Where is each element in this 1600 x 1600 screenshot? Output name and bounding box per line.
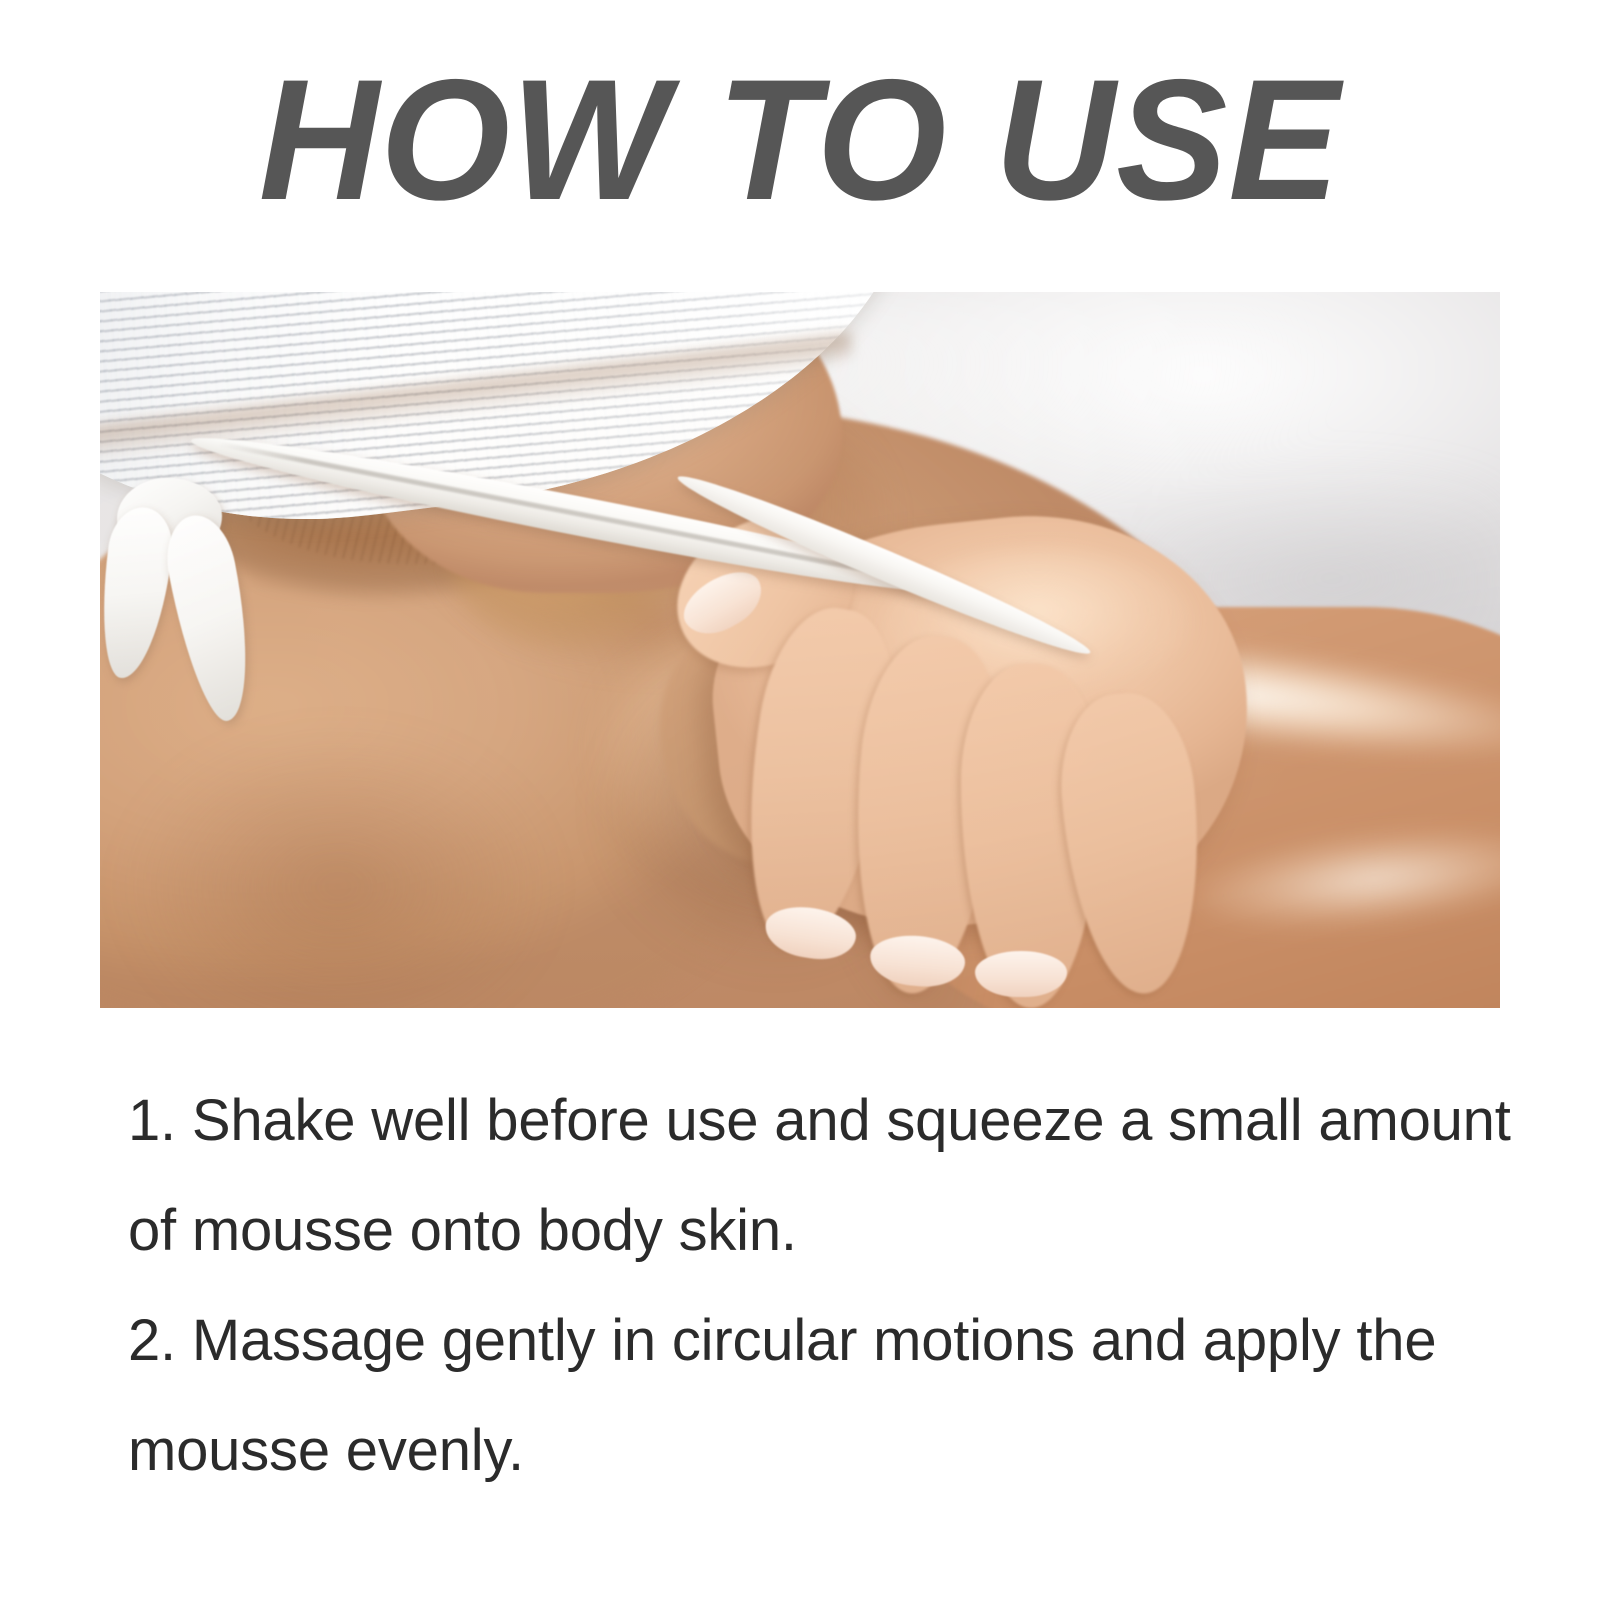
ring-fingernail — [975, 951, 1067, 998]
page-title: HOW TO USE — [259, 54, 1341, 226]
instruction-line-3: 2. Massage gently in circular motions an… — [128, 1286, 1488, 1396]
page-title-block: HOW TO USE — [0, 54, 1600, 226]
photo-canvas — [100, 292, 1500, 1008]
instruction-line-4: mousse evenly. — [128, 1396, 1488, 1506]
instructions-block: 1. Shake well before use and squeeze a s… — [128, 1066, 1488, 1506]
instruction-line-2: of mousse onto body skin. — [128, 1176, 1488, 1286]
how-to-use-photo — [100, 292, 1500, 1008]
instruction-line-1: 1. Shake well before use and squeeze a s… — [128, 1066, 1488, 1176]
